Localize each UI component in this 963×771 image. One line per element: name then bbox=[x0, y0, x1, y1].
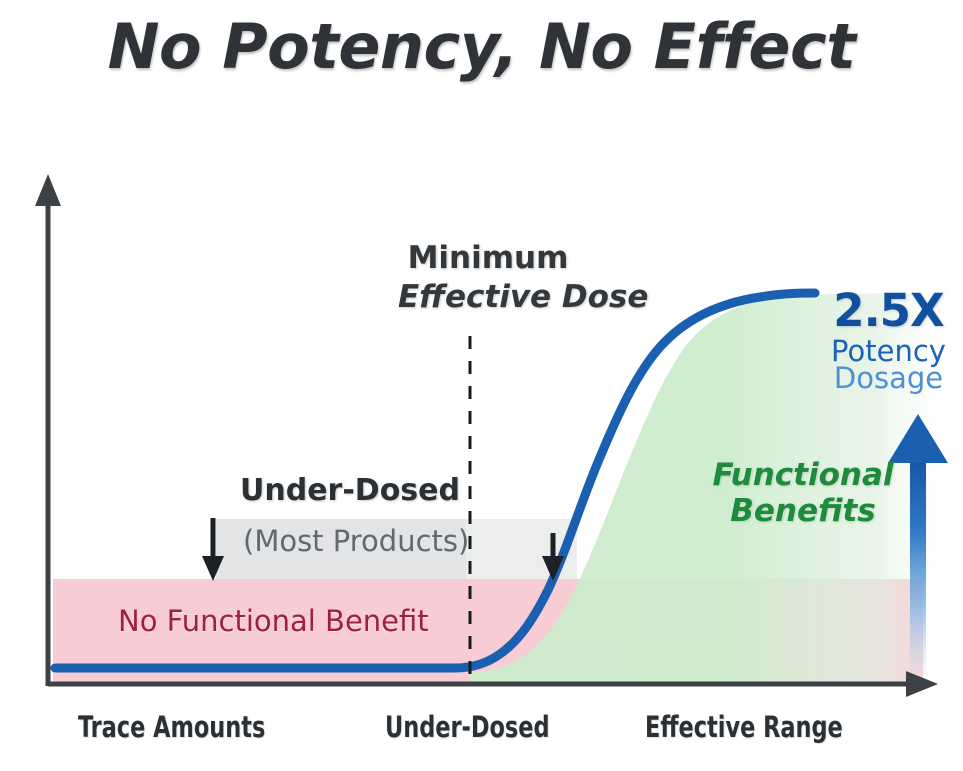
minimum-effective-dose-label: Minimum Effective Dose bbox=[398, 240, 578, 315]
callout-multiplier: 2.5X bbox=[816, 288, 961, 333]
functional-benefits-line2: Benefits bbox=[703, 494, 903, 530]
x-axis-label-trace-amounts: Trace Amounts bbox=[78, 710, 265, 744]
x-axis-label-under-dosed: Under-Dosed bbox=[385, 710, 550, 744]
under-dosed-title: Under-Dosed bbox=[240, 473, 460, 508]
functional-benefits-line1: Functional bbox=[703, 458, 903, 494]
no-functional-benefit-label: No Functional Benefit bbox=[118, 604, 429, 638]
effective-dose-label: Effective Dose bbox=[398, 279, 578, 315]
most-products-label: (Most Products) bbox=[243, 524, 469, 558]
x-axis-label-effective-range: Effective Range bbox=[645, 710, 843, 744]
minimum-label: Minimum bbox=[398, 240, 578, 276]
potency-dosage-callout: 2.5X Potency Dosage bbox=[816, 288, 961, 393]
infographic-canvas: No Potency, No Effect bbox=[0, 0, 963, 771]
y-axis-arrowhead bbox=[35, 174, 61, 206]
callout-dosage: Dosage bbox=[816, 364, 961, 393]
functional-benefits-label: Functional Benefits bbox=[703, 458, 903, 529]
